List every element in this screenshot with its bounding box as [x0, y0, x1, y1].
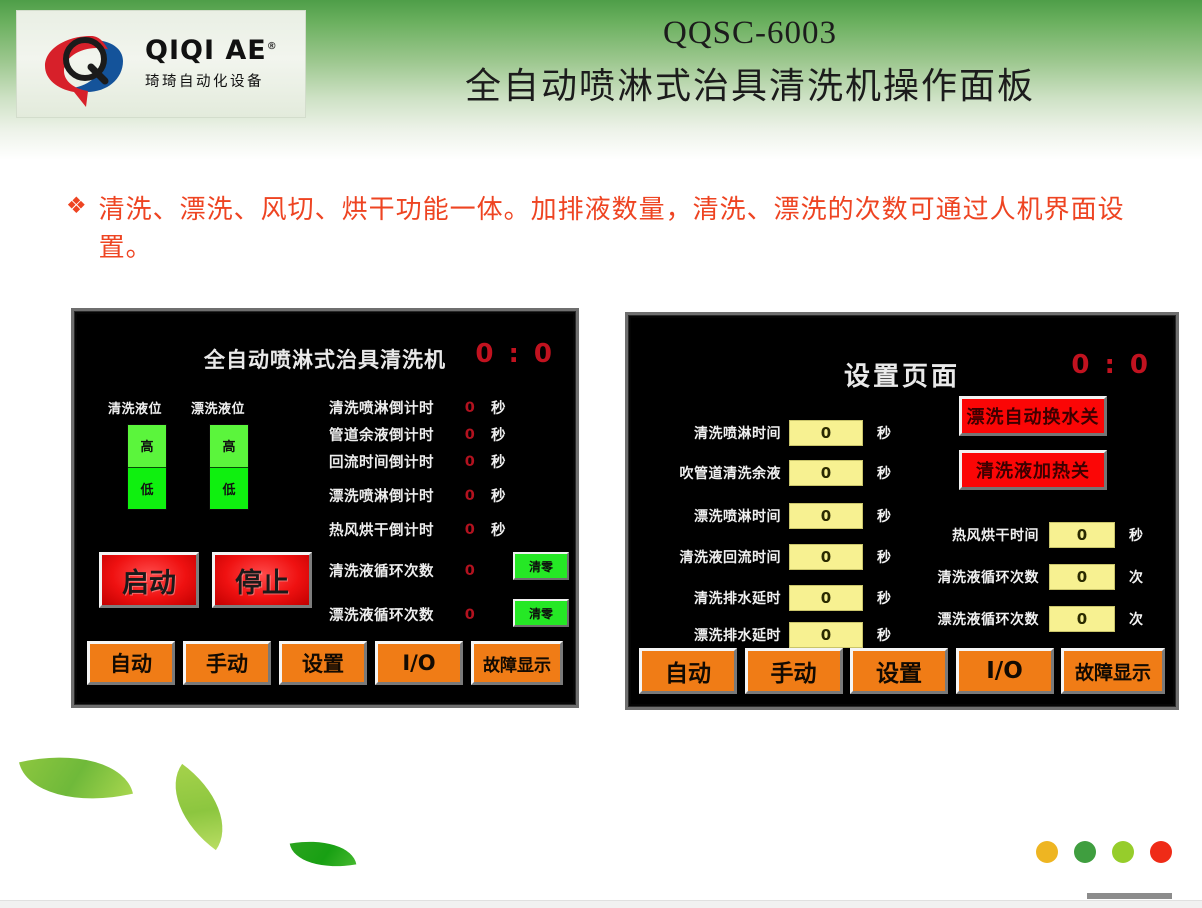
setting-unit: 秒	[877, 463, 891, 483]
setting-unit: 秒	[1129, 525, 1143, 545]
leaf-decoration-icon	[153, 764, 245, 850]
countdown-label: 漂洗喷淋倒计时	[329, 485, 457, 506]
countdown-value: 0	[457, 427, 483, 443]
setting-row: 漂洗排水延时 0 秒	[641, 622, 891, 648]
setting-row: 吹管道清洗余液 0 秒	[641, 460, 891, 486]
level-indicator-rinse: 高 低	[209, 424, 249, 510]
countdown-row: 清洗喷淋倒计时 0 秒	[329, 397, 506, 418]
bullet-text: 清洗、漂洗、风切、烘干功能一体。加排液数量，清洗、漂洗的次数可通过人机界面设置。	[99, 192, 1126, 267]
hmi-main-clock: 0 : 0	[475, 339, 555, 369]
level-high-cell-rinse: 高	[210, 425, 248, 468]
cycle-counter-label: 清洗液循环次数	[329, 560, 457, 581]
level-indicator-wash: 高 低	[127, 424, 167, 510]
hmi-main-inner: 全自动喷淋式治具清洗机 0 : 0 清洗液位 漂洗液位 高 低 高 低 清洗喷淋…	[77, 314, 573, 702]
setting-row: 清洗液回流时间 0 秒	[641, 544, 891, 570]
nav-button-manual[interactable]: 手动	[183, 641, 271, 685]
title-main: 全自动喷淋式治具清洗机操作面板	[320, 62, 1180, 111]
toggle-button-wash-heating[interactable]: 清洗液加热关	[959, 450, 1107, 490]
setting-row: 热风烘干时间 0 秒	[911, 522, 1143, 548]
setting-label: 清洗液回流时间	[641, 547, 781, 567]
setting-input[interactable]: 0	[789, 460, 863, 486]
countdown-unit: 秒	[491, 397, 506, 418]
countdown-value: 0	[457, 454, 483, 470]
countdown-row: 回流时间倒计时 0 秒	[329, 451, 506, 472]
hmi-settings-navbar: 自动 手动 设置 I/O 故障显示	[631, 648, 1173, 694]
toggle-button-auto-water-change[interactable]: 漂洗自动换水关	[959, 396, 1107, 436]
countdown-unit: 秒	[491, 519, 506, 540]
setting-input[interactable]: 0	[789, 622, 863, 648]
clear-button-rinse[interactable]: 清零	[513, 599, 569, 627]
setting-label: 吹管道清洗余液	[641, 463, 781, 483]
countdown-label: 清洗喷淋倒计时	[329, 397, 457, 418]
setting-label: 漂洗液循环次数	[911, 609, 1039, 629]
setting-row: 清洗喷淋时间 0 秒	[641, 420, 891, 446]
countdown-value: 0	[457, 488, 483, 504]
setting-input[interactable]: 0	[789, 544, 863, 570]
setting-label: 热风烘干时间	[911, 525, 1039, 545]
setting-row: 漂洗液循环次数 0 次	[911, 606, 1143, 632]
dot-icon-1	[1036, 841, 1058, 863]
countdown-unit: 秒	[491, 451, 506, 472]
leaf-decoration-icon	[290, 833, 357, 875]
cycle-counter-value: 0	[457, 607, 483, 623]
countdown-row: 漂洗喷淋倒计时 0 秒	[329, 485, 506, 506]
company-logo: QIQI AE® 琦琦自动化设备	[16, 10, 306, 118]
hmi-settings-screen: 设置页面 0 : 0 清洗喷淋时间 0 秒 吹管道清洗余液 0 秒 漂洗喷淋时间…	[625, 312, 1179, 710]
level-low-cell-wash: 低	[128, 468, 166, 510]
cycle-counter-row: 漂洗液循环次数 0	[329, 604, 483, 625]
setting-label: 清洗喷淋时间	[641, 423, 781, 443]
nav-button-settings[interactable]: 设置	[850, 648, 948, 694]
dot-decoration	[1036, 841, 1172, 863]
cycle-counter-value: 0	[457, 563, 483, 579]
setting-unit: 次	[1129, 567, 1143, 587]
setting-label: 漂洗排水延时	[641, 625, 781, 645]
setting-input[interactable]: 0	[1049, 606, 1115, 632]
footer-accent-bar	[1087, 893, 1172, 899]
countdown-unit: 秒	[491, 424, 506, 445]
setting-label: 漂洗喷淋时间	[641, 506, 781, 526]
setting-row: 清洗液循环次数 0 次	[911, 564, 1143, 590]
hmi-main-navbar: 自动 手动 设置 I/O 故障显示	[77, 641, 573, 685]
level-high-cell-wash: 高	[128, 425, 166, 468]
nav-button-manual[interactable]: 手动	[745, 648, 843, 694]
nav-button-fault-display[interactable]: 故障显示	[1061, 648, 1165, 694]
hmi-settings-inner: 设置页面 0 : 0 清洗喷淋时间 0 秒 吹管道清洗余液 0 秒 漂洗喷淋时间…	[631, 318, 1173, 704]
countdown-label: 管道余液倒计时	[329, 424, 457, 445]
nav-button-fault-display[interactable]: 故障显示	[471, 641, 563, 685]
nav-button-settings[interactable]: 设置	[279, 641, 367, 685]
stop-button[interactable]: 停止	[212, 552, 312, 608]
model-number: QQSC-6003	[320, 14, 1180, 54]
setting-input[interactable]: 0	[789, 585, 863, 611]
dot-icon-4	[1150, 841, 1172, 863]
setting-row: 漂洗喷淋时间 0 秒	[641, 503, 891, 529]
countdown-label: 回流时间倒计时	[329, 451, 457, 472]
feature-bullet: ❖ 清洗、漂洗、风切、烘干功能一体。加排液数量，清洗、漂洗的次数可通过人机界面设…	[66, 192, 1126, 267]
logo-wordmark: QIQI AE® 琦琦自动化设备	[145, 37, 278, 91]
dot-icon-2	[1074, 841, 1096, 863]
clear-button-wash[interactable]: 清零	[513, 552, 569, 580]
level-label-rinse: 漂洗液位	[191, 398, 245, 417]
cycle-counter-label: 漂洗液循环次数	[329, 604, 457, 625]
setting-input[interactable]: 0	[1049, 522, 1115, 548]
logo-en-text: QIQI AE®	[145, 37, 278, 64]
countdown-value: 0	[457, 400, 483, 416]
dot-icon-3	[1112, 841, 1134, 863]
nav-button-io[interactable]: I/O	[956, 648, 1054, 694]
setting-unit: 秒	[877, 423, 891, 443]
setting-row: 清洗排水延时 0 秒	[641, 585, 891, 611]
nav-button-auto[interactable]: 自动	[639, 648, 737, 694]
hmi-settings-clock: 0 : 0	[1071, 350, 1151, 380]
setting-unit: 秒	[877, 506, 891, 526]
setting-unit: 秒	[877, 588, 891, 608]
countdown-row: 热风烘干倒计时 0 秒	[329, 519, 506, 540]
hmi-main-screen: 全自动喷淋式治具清洗机 0 : 0 清洗液位 漂洗液位 高 低 高 低 清洗喷淋…	[71, 308, 579, 708]
page-title: QQSC-6003 全自动喷淋式治具清洗机操作面板	[320, 14, 1180, 110]
nav-button-io[interactable]: I/O	[375, 641, 463, 685]
countdown-label: 热风烘干倒计时	[329, 519, 457, 540]
countdown-row: 管道余液倒计时 0 秒	[329, 424, 506, 445]
logo-cn-text: 琦琦自动化设备	[145, 70, 278, 91]
setting-label: 清洗排水延时	[641, 588, 781, 608]
logo-q-mark-icon	[31, 21, 139, 107]
level-low-cell-rinse: 低	[210, 468, 248, 510]
setting-unit: 秒	[877, 625, 891, 645]
page-header: QIQI AE® 琦琦自动化设备 QQSC-6003 全自动喷淋式治具清洗机操作…	[0, 0, 1202, 160]
setting-unit: 秒	[877, 547, 891, 567]
nav-button-auto[interactable]: 自动	[87, 641, 175, 685]
logo-en-label: QIQI AE	[145, 35, 267, 66]
countdown-value: 0	[457, 522, 483, 538]
setting-input[interactable]: 0	[1049, 564, 1115, 590]
setting-input[interactable]: 0	[789, 503, 863, 529]
bullet-diamond-icon: ❖	[66, 192, 87, 221]
setting-input[interactable]: 0	[789, 420, 863, 446]
logo-registered-icon: ®	[267, 41, 278, 52]
setting-unit: 次	[1129, 609, 1143, 629]
setting-label: 清洗液循环次数	[911, 567, 1039, 587]
level-label-wash: 清洗液位	[108, 398, 162, 417]
cycle-counter-row: 清洗液循环次数 0	[329, 560, 483, 581]
countdown-unit: 秒	[491, 485, 506, 506]
start-button[interactable]: 启动	[99, 552, 199, 608]
leaf-decoration-icon	[19, 739, 133, 817]
